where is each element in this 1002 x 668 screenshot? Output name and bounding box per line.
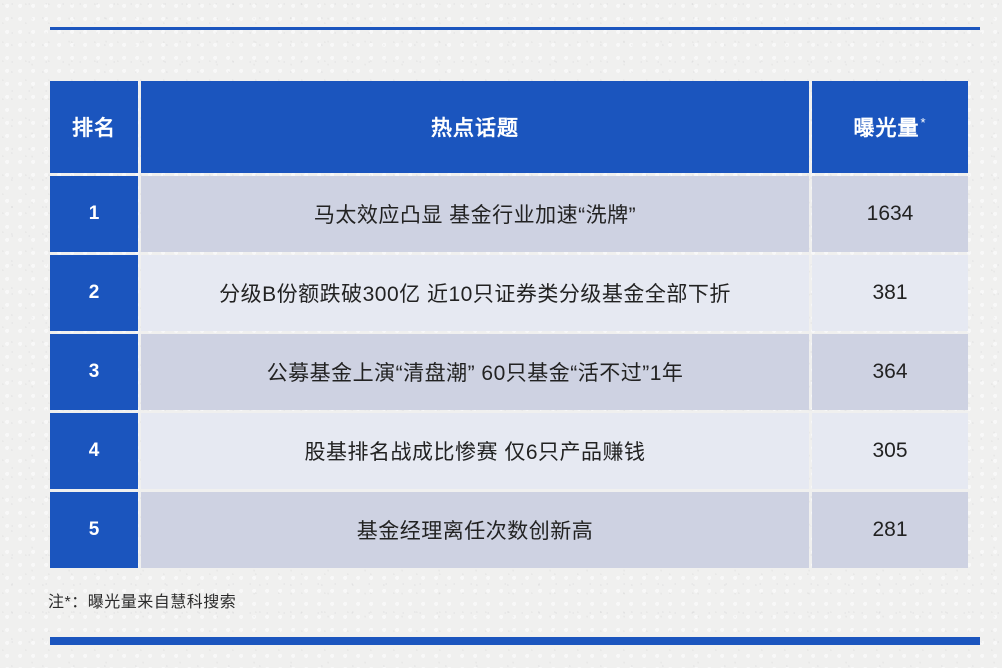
table-row: 1 马太效应凸显 基金行业加速“洗牌” 1634	[50, 176, 968, 252]
rank-value: 2	[50, 255, 138, 331]
table-body: 1 马太效应凸显 基金行业加速“洗牌” 1634 2 分级B份额跌破300亿 近…	[50, 176, 968, 568]
topic-value: 基金经理离任次数创新高	[141, 492, 809, 568]
rank-value: 3	[50, 334, 138, 410]
footnote-asterisk-marker: *	[920, 115, 926, 130]
table-header-row: 排名 热点话题 曝光量*	[50, 81, 968, 173]
column-header-topic: 热点话题	[141, 81, 809, 173]
topic-value: 马太效应凸显 基金行业加速“洗牌”	[141, 176, 809, 252]
rank-value: 4	[50, 413, 138, 489]
count-value: 1634	[812, 176, 968, 252]
rank-value: 5	[50, 492, 138, 568]
bottom-divider-rule	[50, 637, 980, 645]
count-value: 364	[812, 334, 968, 410]
hot-topics-table-container: 排名 热点话题 曝光量* 1 马太效应凸显 基金行业加速“洗牌” 1634 2 …	[47, 78, 965, 571]
topic-value: 股基排名战成比惨赛 仅6只产品赚钱	[141, 413, 809, 489]
topic-value: 公募基金上演“清盘潮” 60只基金“活不过”1年	[141, 334, 809, 410]
count-value: 281	[812, 492, 968, 568]
table-row: 4 股基排名战成比惨赛 仅6只产品赚钱 305	[50, 413, 968, 489]
count-value: 305	[812, 413, 968, 489]
table-footnote: 注*：曝光量来自慧科搜索	[48, 588, 236, 612]
table-row: 5 基金经理离任次数创新高 281	[50, 492, 968, 568]
column-header-rank: 排名	[50, 81, 138, 173]
column-header-count-label: 曝光量	[853, 117, 919, 140]
rank-value: 1	[50, 176, 138, 252]
table-header: 排名 热点话题 曝光量*	[50, 81, 968, 173]
hot-topics-table: 排名 热点话题 曝光量* 1 马太效应凸显 基金行业加速“洗牌” 1634 2 …	[47, 78, 971, 571]
topic-value: 分级B份额跌破300亿 近10只证券类分级基金全部下折	[141, 255, 809, 331]
column-header-count: 曝光量*	[812, 81, 968, 173]
table-row: 2 分级B份额跌破300亿 近10只证券类分级基金全部下折 381	[50, 255, 968, 331]
top-divider-rule	[50, 27, 980, 30]
table-row: 3 公募基金上演“清盘潮” 60只基金“活不过”1年 364	[50, 334, 968, 410]
count-value: 381	[812, 255, 968, 331]
